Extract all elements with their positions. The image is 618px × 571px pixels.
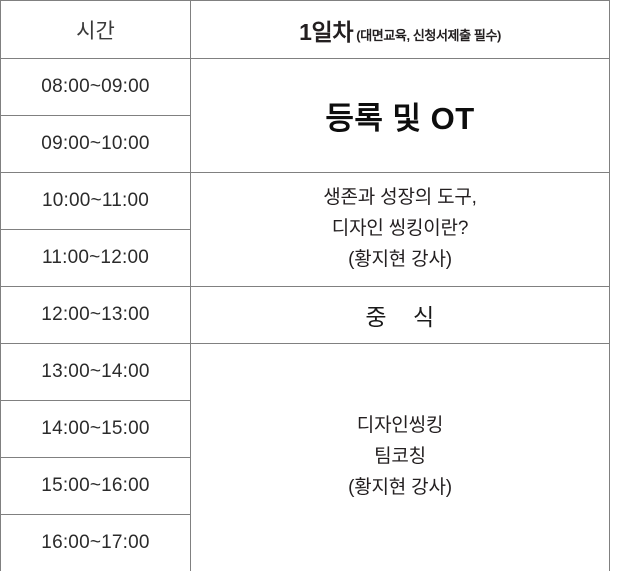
- schedule-table: 시간 1일차(대면교육, 신청서제출 필수) 08:00~09:00 등록 및 …: [0, 0, 610, 571]
- time-slot-1500: 15:00~16:00: [1, 458, 191, 515]
- table-row: 10:00~11:00 생존과 성장의 도구, 디자인 씽킹이란? (황지현 강…: [1, 173, 610, 230]
- column-header-time: 시간: [1, 1, 191, 59]
- table-row: 12:00~13:00 중식: [1, 287, 610, 344]
- session-line-2: 팀코칭: [191, 442, 609, 473]
- time-slot-1000: 10:00~11:00: [1, 173, 191, 230]
- session-instructor: (황지현 강사): [191, 245, 609, 276]
- day1-label: 1일차: [299, 19, 353, 45]
- column-header-day1: 1일차(대면교육, 신청서제출 필수): [191, 1, 610, 59]
- session-team-coaching: 디자인씽킹 팀코칭 (황지현 강사): [191, 344, 610, 571]
- time-slot-1200: 12:00~13:00: [1, 287, 191, 344]
- session-line-1: 생존과 성장의 도구,: [191, 183, 609, 214]
- lunch-label-1: 중: [365, 304, 387, 330]
- table-header-row: 시간 1일차(대면교육, 신청서제출 필수): [1, 1, 610, 59]
- table-row: 13:00~14:00 디자인씽킹 팀코칭 (황지현 강사): [1, 344, 610, 401]
- time-slot-0900: 09:00~10:00: [1, 116, 191, 173]
- time-slot-1600: 16:00~17:00: [1, 515, 191, 571]
- time-slot-1400: 14:00~15:00: [1, 401, 191, 458]
- session-lunch: 중식: [191, 287, 610, 344]
- schedule-sheet: 시간 1일차(대면교육, 신청서제출 필수) 08:00~09:00 등록 및 …: [0, 0, 618, 571]
- session-line-2: 디자인 씽킹이란?: [191, 214, 609, 245]
- time-slot-0800: 08:00~09:00: [1, 59, 191, 116]
- session-design-thinking-intro: 생존과 성장의 도구, 디자인 씽킹이란? (황지현 강사): [191, 173, 610, 287]
- time-slot-1100: 11:00~12:00: [1, 230, 191, 287]
- lunch-label-2: 식: [413, 304, 435, 330]
- session-line-1: 디자인씽킹: [191, 411, 609, 442]
- session-instructor: (황지현 강사): [191, 473, 609, 504]
- time-slot-1300: 13:00~14:00: [1, 344, 191, 401]
- day1-note: (대면교육, 신청서제출 필수): [356, 28, 501, 43]
- table-row: 08:00~09:00 등록 및 OT: [1, 59, 610, 116]
- session-registration-ot: 등록 및 OT: [191, 59, 610, 173]
